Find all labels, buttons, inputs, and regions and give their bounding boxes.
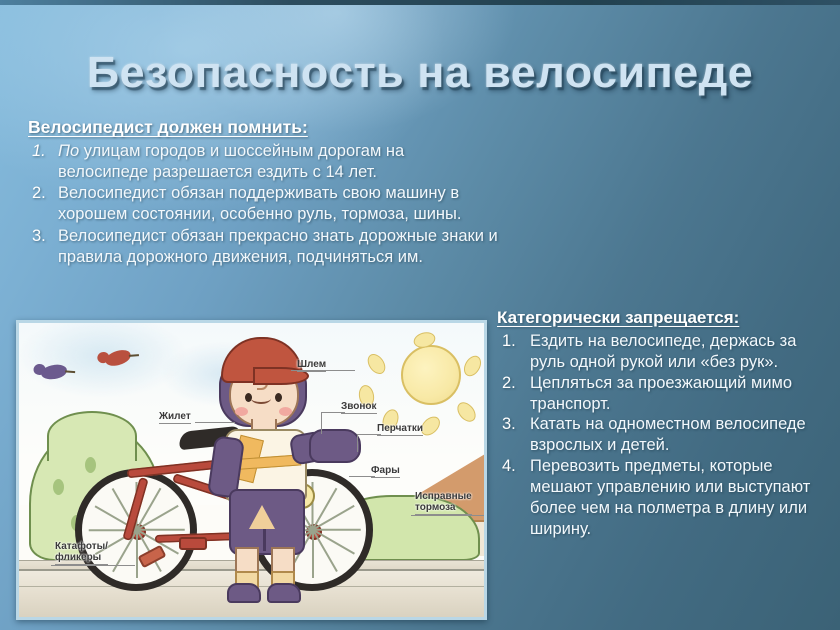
list-item-number: 1. xyxy=(32,141,46,162)
leader-line-bell xyxy=(321,412,345,413)
leader-line-gloves-vertical xyxy=(357,434,358,452)
sun-icon xyxy=(401,345,461,405)
bike-pedal xyxy=(179,537,207,550)
label-reflectors: Катафоты/ фликеры xyxy=(55,541,108,565)
leader-line-headlight xyxy=(349,476,375,477)
leader-line-vest xyxy=(195,422,235,423)
reflective-triangle-icon xyxy=(249,505,275,529)
left-rules-list: 1.По улицам городов и шоссейным дорогам … xyxy=(28,141,498,267)
leader-line-helmet xyxy=(291,370,355,371)
bush-dot xyxy=(53,479,64,495)
illustration-canvas: Шлем Жилет Звонок Перчатки Фары Испр xyxy=(19,323,484,617)
list-item-number: 1. xyxy=(502,331,516,352)
list-item: 3.Катать на одноместном велосипеде взрос… xyxy=(497,414,832,456)
list-item-number: 3. xyxy=(32,226,46,247)
list-item-lead: По xyxy=(58,142,79,160)
right-block-heading: Категорически запрещается: xyxy=(497,308,832,328)
list-item-number: 4. xyxy=(502,456,516,477)
list-item: 1.По улицам городов и шоссейным дорогам … xyxy=(28,141,498,182)
list-item-text: Ездить на велосипеде, держась за руль од… xyxy=(530,332,796,371)
glove-icon xyxy=(309,429,361,463)
list-item-text: Велосипедист обязан прекрасно знать доро… xyxy=(58,227,498,266)
list-item-text: Катать на одноместном велосипеде взрослы… xyxy=(530,415,806,454)
shoe xyxy=(267,583,301,603)
list-item-text: Перевозить предметы, которые мешают упра… xyxy=(530,457,810,538)
list-item-number: 2. xyxy=(32,183,46,204)
cyclist-must-remember-block: Велосипедист должен помнить: 1.По улицам… xyxy=(28,117,498,268)
leader-line-gloves xyxy=(357,434,381,435)
list-item: 1.Ездить на велосипеде, держась за руль … xyxy=(497,331,832,373)
strictly-forbidden-block: Категорически запрещается: 1.Ездить на в… xyxy=(497,308,832,540)
list-item: 2.Велосипедист обязан поддерживать свою … xyxy=(28,183,498,224)
list-item: 3.Велосипедист обязан прекрасно знать до… xyxy=(28,226,498,267)
eye xyxy=(275,393,282,402)
label-gloves: Перчатки xyxy=(377,423,423,436)
top-edge-strip xyxy=(0,0,840,5)
label-headlight: Фары xyxy=(371,465,400,478)
list-item-number: 2. xyxy=(502,373,516,394)
leader-line-bell-vertical xyxy=(321,412,322,434)
child-figure xyxy=(205,337,325,599)
list-item-text: Велосипедист обязан поддерживать свою ма… xyxy=(58,184,461,223)
slide-root: Безопасность на велосипеде Велосипедист … xyxy=(0,0,840,630)
list-item: 2.Цепляться за проезжающий мимо транспор… xyxy=(497,373,832,415)
leader-line-brakes xyxy=(411,515,484,516)
cheek xyxy=(279,407,292,416)
label-bell: Звонок xyxy=(341,401,377,414)
left-block-heading: Велосипедист должен помнить: xyxy=(28,117,498,138)
mouth xyxy=(251,393,271,404)
bicycle-safety-illustration: Шлем Жилет Звонок Перчатки Фары Испр xyxy=(16,320,487,620)
label-vest: Жилет xyxy=(159,411,191,424)
cheek xyxy=(235,407,248,416)
label-brakes: Исправные тормоза xyxy=(415,491,472,515)
page-title: Безопасность на велосипеде xyxy=(0,48,840,98)
list-item: 4.Перевозить предметы, которые мешают уп… xyxy=(497,456,832,539)
list-item-number: 3. xyxy=(502,414,516,435)
list-item-text: улицам городов и шоссейным дорогам на ве… xyxy=(58,142,404,181)
leader-line-reflectors xyxy=(51,565,135,566)
right-rules-list: 1.Ездить на велосипеде, держась за руль … xyxy=(497,331,832,540)
list-item-text: Цепляться за проезжающий мимо транспорт. xyxy=(530,374,792,413)
shoe xyxy=(227,583,261,603)
